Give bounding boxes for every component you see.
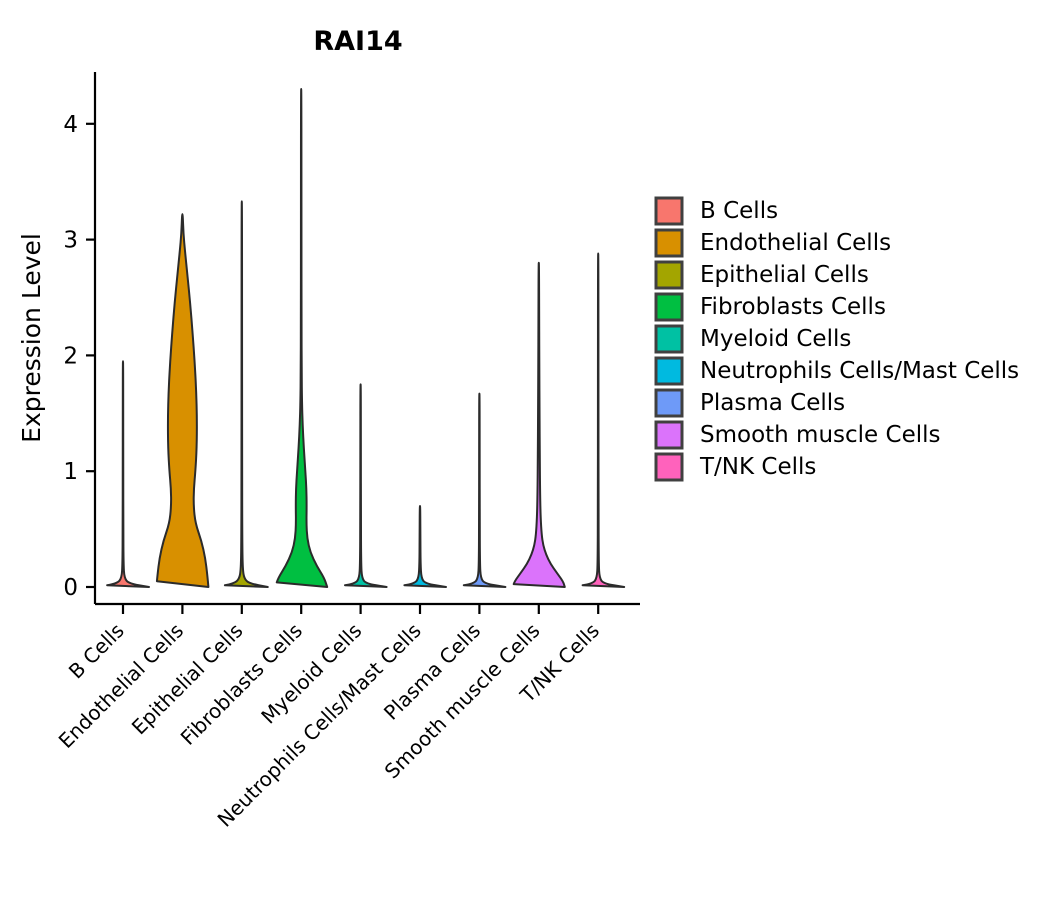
violin-myeloid-cells[interactable] (345, 384, 387, 587)
violin-b-cells[interactable] (107, 361, 149, 587)
legend-swatch[interactable] (656, 262, 682, 288)
legend-item-b-cells[interactable]: B Cells (656, 198, 778, 224)
violin-epithelial-cells[interactable] (225, 201, 268, 587)
legend-swatch[interactable] (656, 294, 682, 320)
y-axis-ticks: 01234 (63, 112, 95, 601)
violin-smooth-muscle-cells[interactable] (514, 263, 565, 587)
legend-swatch[interactable] (656, 422, 682, 448)
legend-swatch[interactable] (656, 358, 682, 384)
legend-swatch[interactable] (656, 454, 682, 480)
legend-label: Epithelial Cells (700, 262, 869, 288)
legend-label: Endothelial Cells (700, 230, 891, 256)
violin-body[interactable] (583, 254, 625, 588)
y-tick-label: 1 (63, 459, 78, 485)
violin-neutrophils-cells-mast-cells[interactable] (404, 506, 446, 587)
legend-label: Plasma Cells (700, 390, 845, 416)
violin-t-nk-cells[interactable] (583, 254, 625, 588)
legend-item-endothelial-cells[interactable]: Endothelial Cells (656, 230, 891, 256)
legend-item-myeloid-cells[interactable]: Myeloid Cells (656, 326, 851, 352)
y-tick-label: 4 (63, 112, 78, 138)
violin-fibroblasts-cells[interactable] (277, 89, 327, 587)
legend-item-t-nk-cells[interactable]: T/NK Cells (656, 454, 816, 480)
legend-item-plasma-cells[interactable]: Plasma Cells (656, 390, 845, 416)
legend-label: Fibroblasts Cells (700, 294, 886, 320)
violin-plot-canvas: RAI14 Expression Level 01234 B CellsEndo… (0, 0, 1057, 900)
violin-body[interactable] (345, 384, 387, 587)
violin-plasma-cells[interactable] (464, 394, 506, 587)
legend-label: Neutrophils Cells/Mast Cells (700, 358, 1019, 384)
legend: B CellsEndothelial CellsEpithelial Cells… (656, 198, 1019, 480)
violin-body[interactable] (107, 361, 149, 587)
legend-swatch[interactable] (656, 390, 682, 416)
violin-endothelial-cells[interactable] (157, 214, 208, 587)
legend-item-epithelial-cells[interactable]: Epithelial Cells (656, 262, 869, 288)
x-axis-ticks (123, 604, 598, 614)
violin-body[interactable] (277, 89, 327, 587)
legend-item-neutrophils-cells-mast-cells[interactable]: Neutrophils Cells/Mast Cells (656, 358, 1019, 384)
page-title: RAI14 (313, 26, 402, 57)
violin-body[interactable] (404, 506, 446, 587)
violin-plot-figure: RAI14 Expression Level 01234 B CellsEndo… (0, 0, 1057, 900)
x-axis-labels: B CellsEndothelial CellsEpithelial Cells… (54, 618, 604, 831)
y-tick-label: 0 (63, 575, 78, 601)
legend-label: T/NK Cells (699, 454, 816, 480)
violin-body[interactable] (225, 201, 268, 587)
violin-body[interactable] (157, 214, 208, 587)
legend-swatch[interactable] (656, 230, 682, 256)
legend-item-fibroblasts-cells[interactable]: Fibroblasts Cells (656, 294, 886, 320)
legend-item-smooth-muscle-cells[interactable]: Smooth muscle Cells (656, 422, 941, 448)
violin-body[interactable] (464, 394, 506, 587)
violin-group (107, 89, 624, 587)
legend-swatch[interactable] (656, 198, 682, 224)
violin-body[interactable] (514, 263, 565, 587)
legend-label: B Cells (700, 198, 778, 224)
y-axis-title: Expression Level (17, 233, 46, 443)
legend-label: Smooth muscle Cells (700, 422, 941, 448)
y-tick-label: 3 (63, 228, 78, 254)
y-tick-label: 2 (63, 343, 78, 369)
legend-label: Myeloid Cells (700, 326, 851, 352)
legend-swatch[interactable] (656, 326, 682, 352)
